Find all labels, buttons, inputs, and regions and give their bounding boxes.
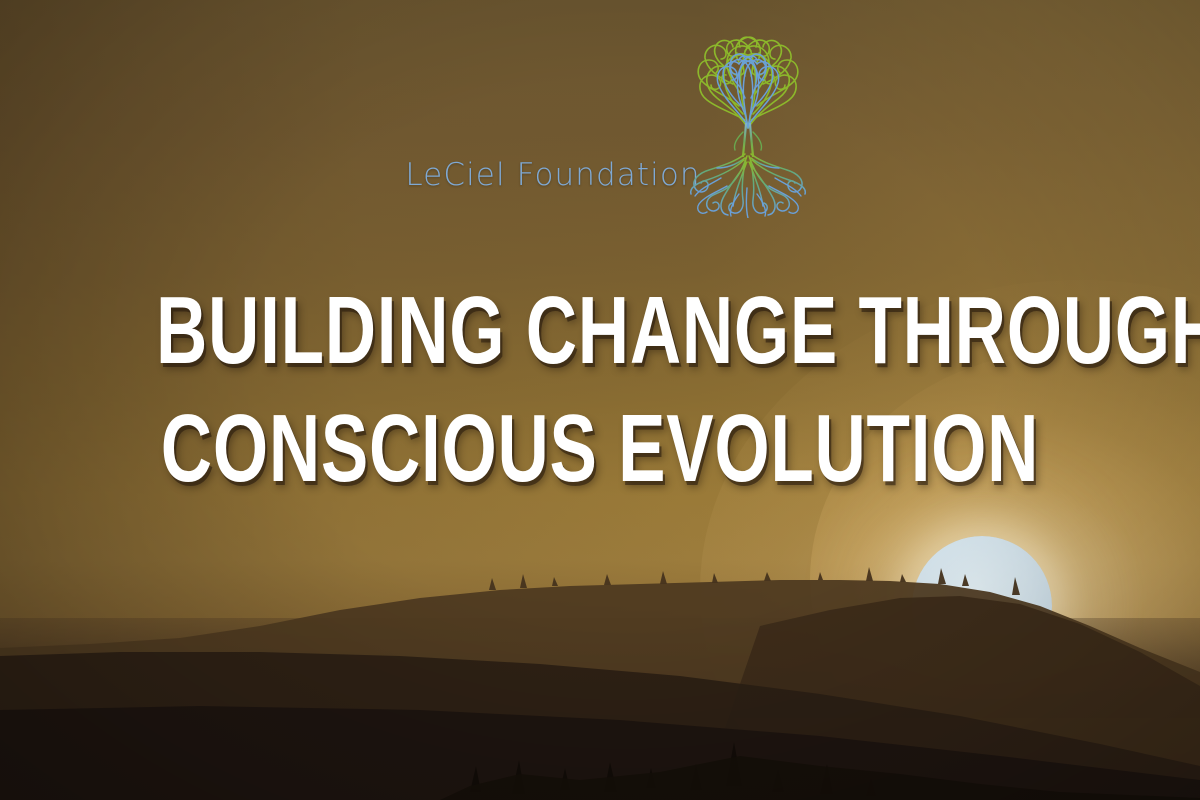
logo-block[interactable]: LeCiel Foundation xyxy=(0,28,1200,218)
hero-banner: LeCiel Foundation xyxy=(0,0,1200,800)
headline-line-2: CONSCIOUS EVOLUTION xyxy=(156,390,1044,508)
foreground-silhouette xyxy=(0,560,1200,800)
logo-wordmark: LeCiel Foundation xyxy=(405,157,700,193)
headline-line-1: BUILDING CHANGE THROUGH xyxy=(156,272,1044,390)
headline: BUILDING CHANGE THROUGH CONSCIOUS EVOLUT… xyxy=(0,272,1200,508)
filigree-tree-logo-icon xyxy=(683,28,813,218)
